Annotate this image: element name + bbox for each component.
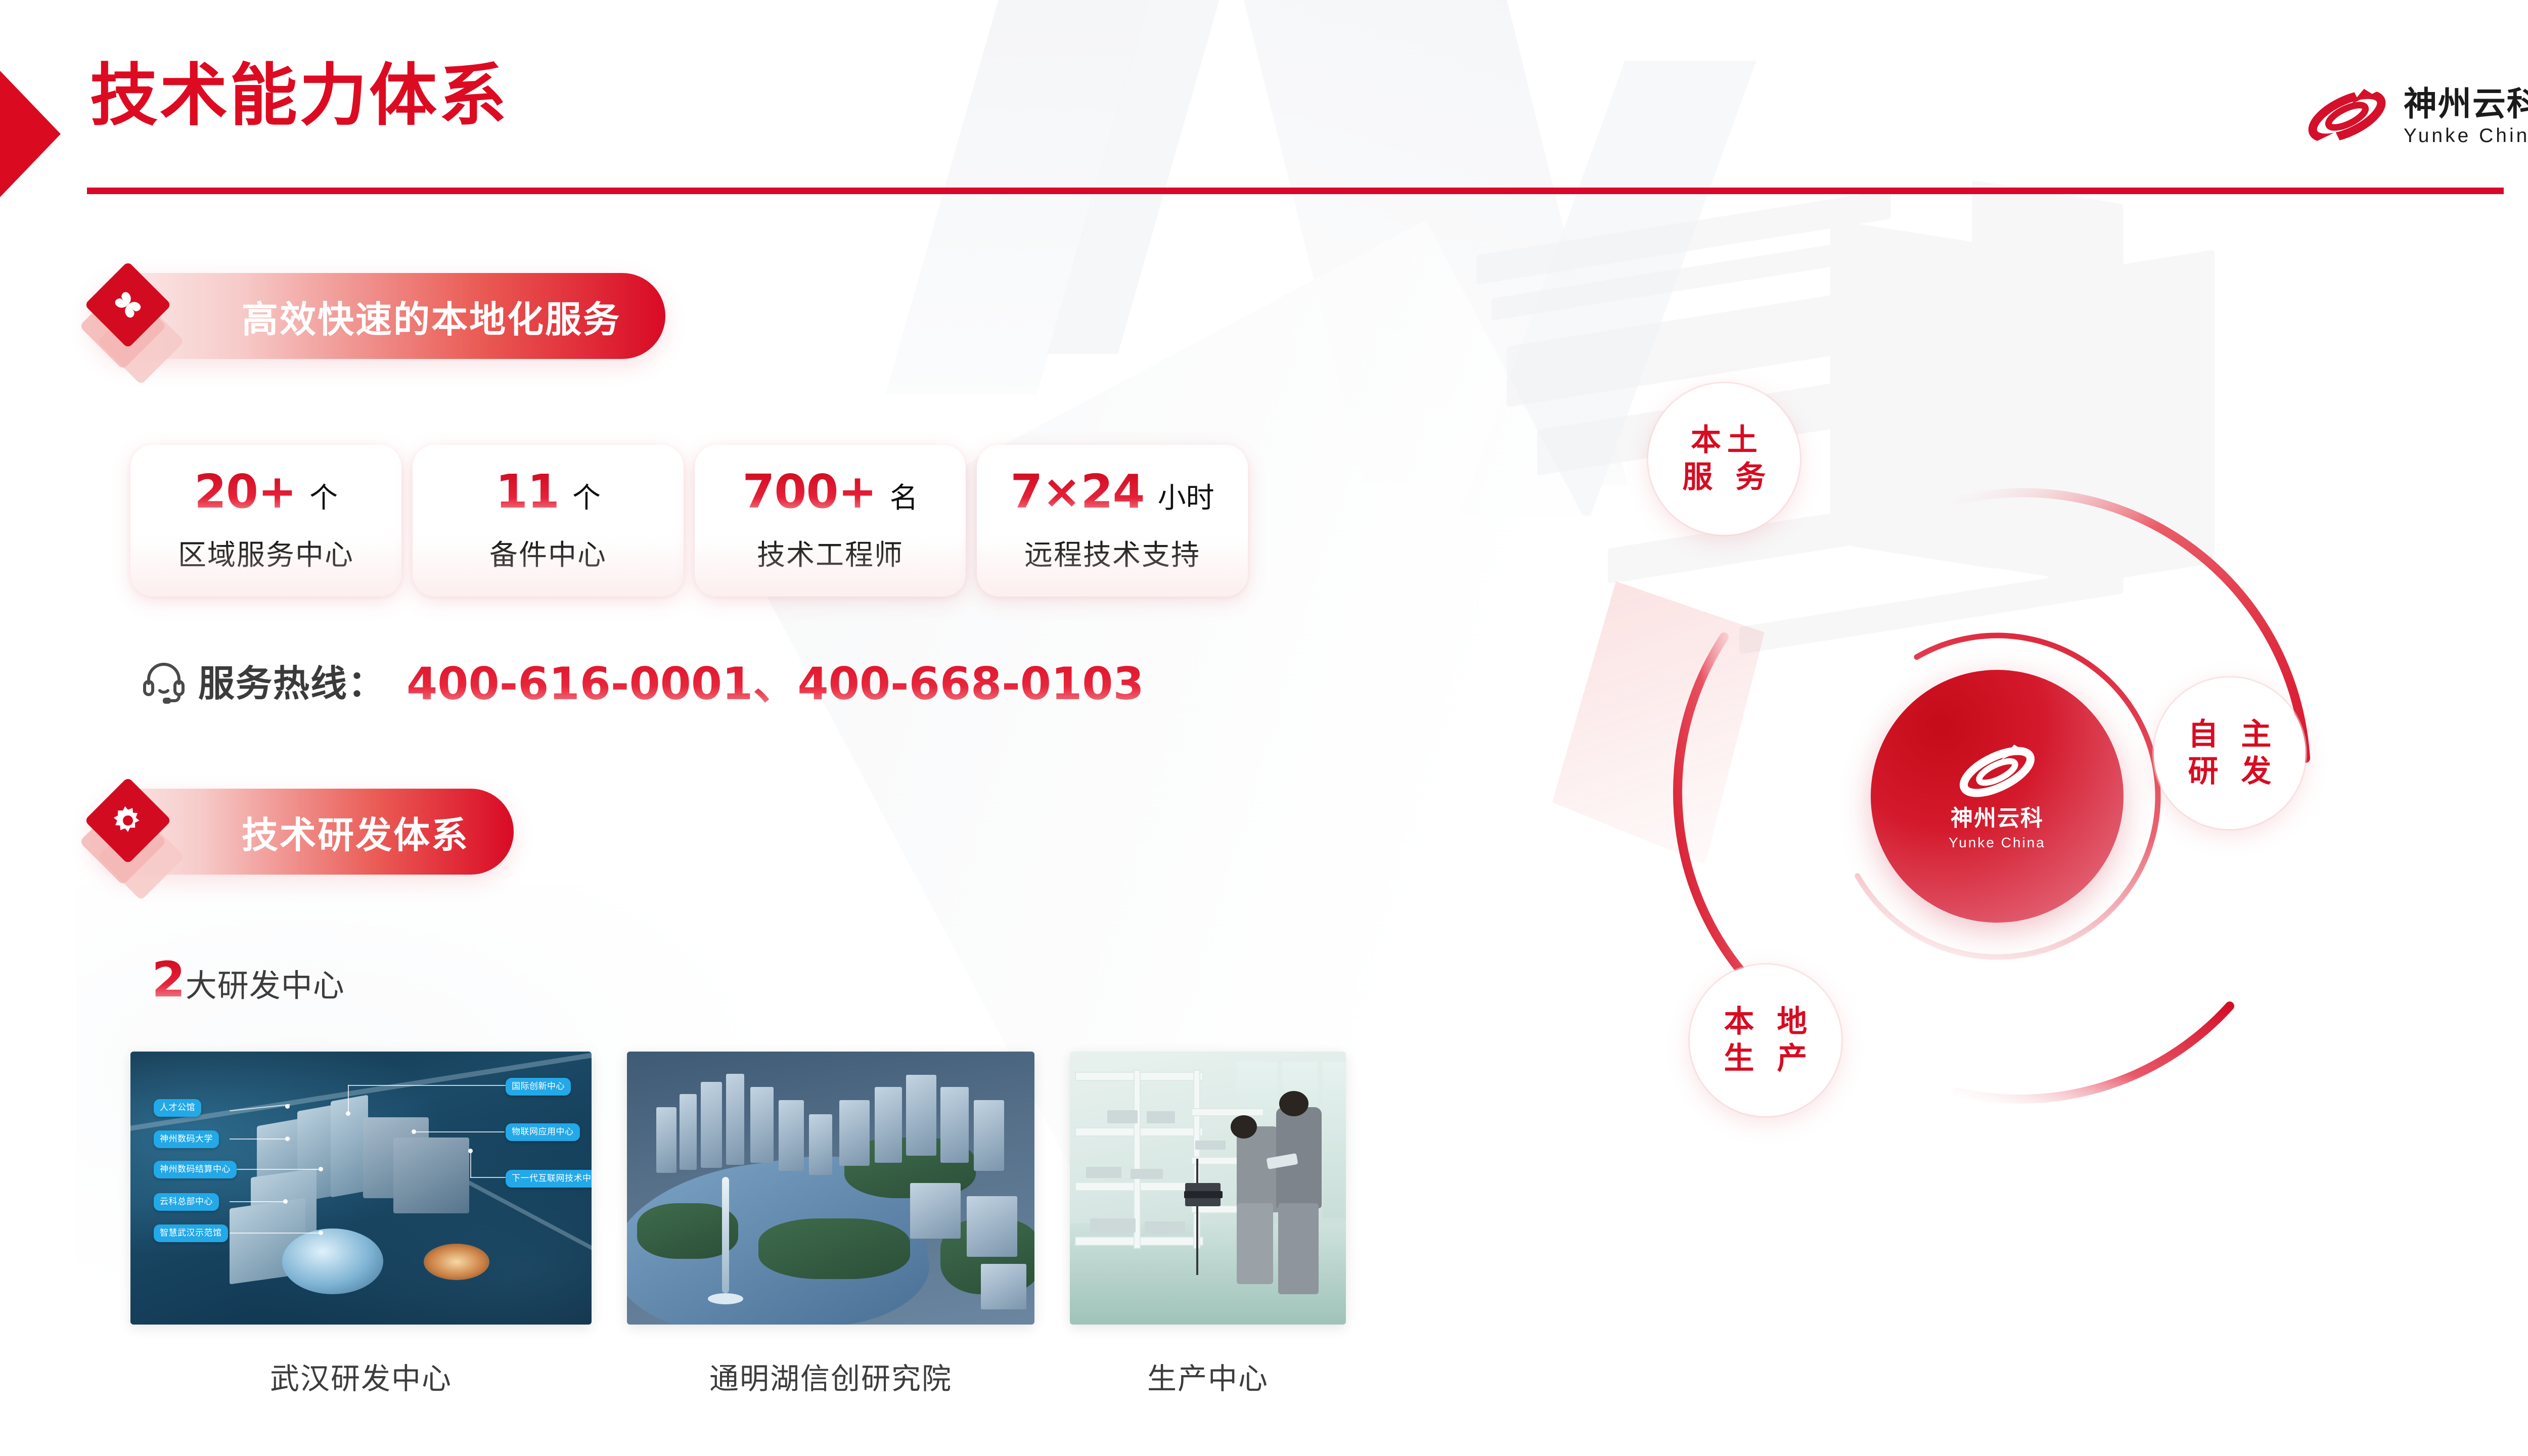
photo-tag: 国际创新中心 bbox=[506, 1078, 571, 1096]
photo-tag: 下一代互联网技术中心 bbox=[506, 1170, 592, 1188]
photo-tag: 神州数码大学 bbox=[154, 1130, 219, 1148]
page-title: 技术能力体系 bbox=[90, 62, 509, 129]
stat-label: 技术工程师 bbox=[757, 532, 904, 573]
wuhan-campus-image: 人才公馆 神州数码大学 神州数码结算中心 云科总部中心 智慧武汉示范馆 国际创新… bbox=[130, 1052, 592, 1325]
watermark-shape bbox=[885, 0, 1167, 394]
diagram-center-brand: 神州云科 Yunke China bbox=[1871, 670, 2124, 923]
node-line-1: 本土 bbox=[1685, 422, 1764, 459]
section-header-rd-system: 技术研发体系 bbox=[90, 789, 514, 875]
headset-icon bbox=[141, 657, 187, 704]
slide-root: 技术能力体系 神州云科 Yunke China 高效快速的本地化服务 bbox=[0, 0, 2528, 1456]
yunke-swoosh-icon bbox=[1955, 742, 2040, 802]
gallery-item[interactable]: 生产中心 bbox=[1070, 1052, 1346, 1397]
stat-label: 区域服务中心 bbox=[178, 532, 354, 573]
node-line-1: 本 地 bbox=[1718, 1004, 1814, 1040]
center-name-cn: 神州云科 bbox=[1951, 806, 2044, 831]
stat-label: 备件中心 bbox=[489, 532, 607, 573]
stat-card[interactable]: 7×24 小时 远程技术支持 bbox=[977, 445, 1248, 597]
center-name-en: Yunke China bbox=[1949, 835, 2046, 851]
gallery-caption: 生产中心 bbox=[1147, 1355, 1269, 1397]
node-line-2: 服 务 bbox=[1677, 459, 1772, 496]
stat-unit: 个 bbox=[309, 484, 338, 513]
section-label: 高效快速的本地化服务 bbox=[242, 290, 621, 343]
photo-tag: 智慧武汉示范馆 bbox=[154, 1224, 228, 1242]
header-divider bbox=[87, 188, 2504, 194]
node-line-1: 自 主 bbox=[2182, 716, 2278, 753]
stat-label: 远程技术支持 bbox=[1024, 532, 1200, 573]
logo-name-en: Yunke China bbox=[2404, 126, 2528, 146]
stat-unit: 个 bbox=[572, 484, 601, 513]
stat-card[interactable]: 11 个 备件中心 bbox=[413, 445, 684, 597]
stat-number: 7×24 bbox=[1010, 469, 1144, 515]
rd-center-count: 2 大研发中心 bbox=[152, 955, 345, 1006]
diagram-node-self-rd[interactable]: 自 主 研 发 bbox=[2154, 677, 2306, 829]
stat-card-list: 20+ 个 区域服务中心 11 个 备件中心 700+ 名 技术工程师 7×24… bbox=[130, 445, 1248, 597]
brand-logo: 神州云科 Yunke China bbox=[2304, 85, 2528, 148]
stat-number: 20+ bbox=[194, 469, 296, 515]
diagram-node-local-service[interactable]: 本土 服 务 bbox=[1648, 383, 1800, 535]
photo-tag: 人才公馆 bbox=[154, 1099, 201, 1117]
diagram-node-local-mfg[interactable]: 本 地 生 产 bbox=[1690, 965, 1841, 1116]
section-header-local-service: 高效快速的本地化服务 bbox=[90, 273, 665, 359]
hotline-label: 服务热线： bbox=[198, 654, 385, 707]
stat-number: 700+ bbox=[742, 469, 876, 515]
diamond-layers-icon bbox=[83, 262, 199, 378]
production-center-image bbox=[1070, 1052, 1346, 1325]
watermark-shape bbox=[1047, 0, 1228, 354]
section-label: 技术研发体系 bbox=[242, 805, 469, 858]
logo-name-cn: 神州云科 bbox=[2404, 87, 2528, 121]
photo-tag: 神州数码结算中心 bbox=[154, 1161, 237, 1178]
photo-tag: 物联网应用中心 bbox=[506, 1123, 580, 1141]
gallery-caption: 武汉研发中心 bbox=[270, 1355, 452, 1397]
node-line-2: 研 发 bbox=[2182, 753, 2278, 790]
stat-number: 11 bbox=[495, 469, 559, 515]
watermark-shape bbox=[1224, 0, 1628, 485]
hotline-numbers[interactable]: 400-616-0001、400-668-0103 bbox=[407, 648, 1144, 712]
gallery-caption: 通明湖信创研究院 bbox=[709, 1355, 952, 1397]
stat-card[interactable]: 20+ 个 区域服务中心 bbox=[130, 445, 401, 597]
capability-circle-diagram: 本土 服 务 自 主 研 发 本 地 生 产 神州云科 Yunke China bbox=[1643, 374, 2462, 1193]
gallery-item[interactable]: 人才公馆 神州数码大学 神州数码结算中心 云科总部中心 智慧武汉示范馆 国际创新… bbox=[130, 1052, 592, 1397]
stat-unit: 小时 bbox=[1158, 484, 1214, 513]
stat-card[interactable]: 700+ 名 技术工程师 bbox=[695, 445, 966, 597]
rd-count-number: 2 bbox=[152, 955, 186, 1004]
yunke-swoosh-icon bbox=[2304, 85, 2390, 148]
diamond-gear-icon bbox=[83, 778, 199, 894]
node-line-2: 生 产 bbox=[1718, 1040, 1814, 1077]
rd-gallery: 人才公馆 神州数码大学 神州数码结算中心 云科总部中心 智慧武汉示范馆 国际创新… bbox=[130, 1052, 1346, 1397]
photo-tag: 云科总部中心 bbox=[154, 1193, 219, 1211]
triangle-right-icon bbox=[0, 71, 61, 197]
gallery-item[interactable]: 通明湖信创研究院 bbox=[627, 1052, 1034, 1397]
service-hotline: 服务热线： 400-616-0001、400-668-0103 bbox=[141, 648, 1144, 712]
rd-count-suffix: 大研发中心 bbox=[186, 960, 345, 1006]
tongminghu-image bbox=[627, 1052, 1034, 1325]
stat-unit: 名 bbox=[890, 484, 918, 513]
